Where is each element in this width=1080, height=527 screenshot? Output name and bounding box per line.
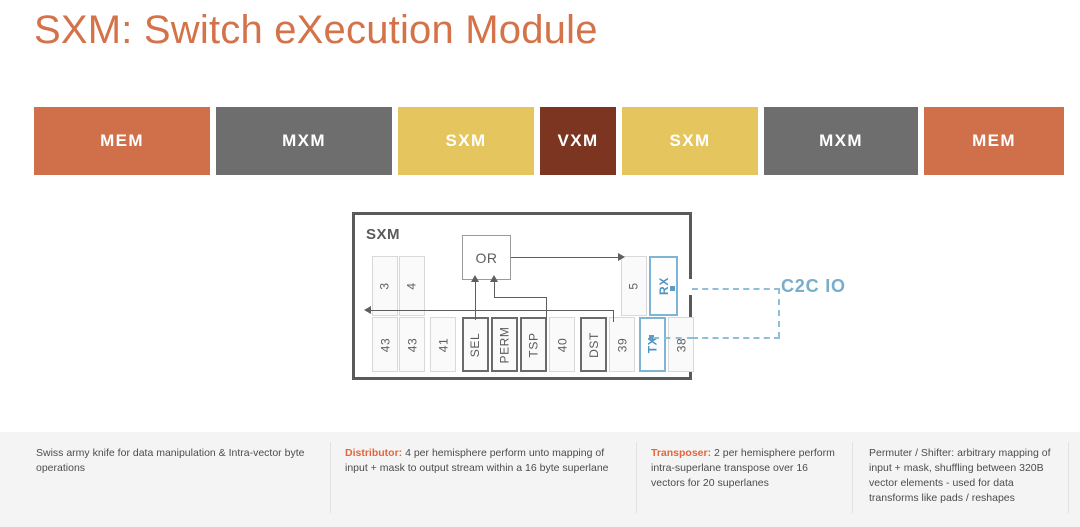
footer-column-1: Distributor: 4 per hemisphere perform un… xyxy=(331,432,636,527)
arrow-sel-to-or xyxy=(471,275,479,282)
diagram-frame-bottom xyxy=(352,377,692,380)
wire-or-to-out xyxy=(511,257,621,258)
page-title: SXM: Switch eXecution Module xyxy=(34,8,598,53)
sxm-block-diagram: SXM OR 345RX434341SELPERMTSP40DST39TX38 xyxy=(352,212,692,380)
or-gate-box: OR xyxy=(462,235,511,280)
pipeline-segment-label: VXM xyxy=(557,131,598,151)
diagram-cell-bot-sel: SEL xyxy=(462,317,489,372)
diagram-cell-label: 38 xyxy=(674,337,688,352)
pipeline-segment-label: SXM xyxy=(669,131,710,151)
pipeline-segment-mxm-5: MXM xyxy=(764,107,918,175)
diagram-frame-right-upper xyxy=(689,212,692,279)
footer-column-4: Shift, Rotate, Distribute, Permute, Tran… xyxy=(1069,432,1080,527)
footer-column-text: Permuter / Shifter: arbitrary mapping of… xyxy=(869,447,1051,504)
footer-column-2: Transposer: 2 per hemisphere perform int… xyxy=(637,432,852,527)
diagram-cell-label: RX xyxy=(657,277,671,295)
diagram-cell-label: 41 xyxy=(436,337,450,352)
arrow-feedback-bus xyxy=(364,306,371,314)
rx-link-dot xyxy=(670,286,675,291)
pipeline-segment-sxm-4: SXM xyxy=(622,107,758,175)
footer-column-lead: Distributor: xyxy=(345,447,402,459)
diagram-cell-label: 3 xyxy=(378,282,392,289)
wire-tsp-to-or-vertical xyxy=(494,280,495,297)
diagram-cell-bot-38: 38 xyxy=(668,317,694,372)
diagram-cell-label: 4 xyxy=(405,282,419,289)
diagram-cell-label: 5 xyxy=(627,282,641,289)
diagram-cell-bot-43a: 43 xyxy=(372,317,398,372)
pipeline-bar: MEMMXMSXMVXMSXMMXMMEM xyxy=(34,107,1046,175)
footer-band: Swiss army knife for data manipulation &… xyxy=(0,432,1080,527)
arrow-tsp-to-or xyxy=(490,275,498,282)
tx-dashed-stub xyxy=(653,337,693,339)
diagram-cell-bot-dst: DST xyxy=(580,317,607,372)
diagram-cell-label: 43 xyxy=(378,337,392,352)
diagram-frame-top xyxy=(352,212,692,215)
wire-tsp-to-or-horizontal xyxy=(494,297,547,298)
diagram-cell-label: 43 xyxy=(405,337,419,352)
pipeline-segment-vxm-3: VXM xyxy=(540,107,616,175)
pipeline-segment-label: SXM xyxy=(445,131,486,151)
diagram-cell-bot-tx: TX xyxy=(639,317,666,372)
footer-columns: Swiss army knife for data manipulation &… xyxy=(0,432,1080,527)
diagram-cell-top-5: 5 xyxy=(621,256,647,316)
diagram-cell-label: 40 xyxy=(555,337,569,352)
c2c-tx-dashed-line xyxy=(692,337,780,339)
footer-column-text: Swiss army knife for data manipulation &… xyxy=(36,447,304,474)
c2c-dashed-joiner xyxy=(778,288,780,338)
arrow-or-to-out xyxy=(618,253,625,261)
pipeline-segment-mxm-1: MXM xyxy=(216,107,392,175)
pipeline-segment-sxm-2: SXM xyxy=(398,107,534,175)
diagram-cell-bot-43b: 43 xyxy=(399,317,425,372)
diagram-title: SXM xyxy=(366,226,400,243)
footer-column-lead: Transposer: xyxy=(651,447,711,459)
c2c-io-label: C2C IO xyxy=(781,276,846,297)
diagram-cell-bot-40: 40 xyxy=(549,317,575,372)
pipeline-segment-mem-0: MEM xyxy=(34,107,210,175)
footer-column-3: Permuter / Shifter: arbitrary mapping of… xyxy=(853,432,1068,527)
pipeline-segment-mem-6: MEM xyxy=(924,107,1064,175)
wire-tsp-riser xyxy=(546,297,547,320)
diagram-frame-left xyxy=(352,212,355,380)
diagram-cell-label: DST xyxy=(587,332,601,358)
diagram-cell-label: 39 xyxy=(615,337,629,352)
pipeline-segment-label: MEM xyxy=(972,131,1016,151)
diagram-cell-label: SEL xyxy=(469,332,483,356)
diagram-cell-label: PERM xyxy=(498,326,512,363)
footer-column-0: Swiss army knife for data manipulation &… xyxy=(0,432,330,527)
pipeline-segment-label: MXM xyxy=(819,131,863,151)
wire-feedback-drop xyxy=(613,310,614,322)
diagram-cell-top-3: 3 xyxy=(372,256,398,316)
diagram-cell-bot-tsp: TSP xyxy=(520,317,547,372)
diagram-cell-label: TSP xyxy=(527,332,541,357)
diagram-cell-top-4: 4 xyxy=(399,256,425,316)
pipeline-segment-label: MEM xyxy=(100,131,144,151)
c2c-rx-dashed-line xyxy=(692,288,780,290)
diagram-cell-bot-39: 39 xyxy=(609,317,635,372)
wire-sel-to-or xyxy=(475,280,476,320)
wire-feedback-bus xyxy=(369,310,614,311)
diagram-cell-bot-41: 41 xyxy=(430,317,456,372)
diagram-cell-bot-perm: PERM xyxy=(491,317,518,372)
pipeline-segment-label: MXM xyxy=(282,131,326,151)
